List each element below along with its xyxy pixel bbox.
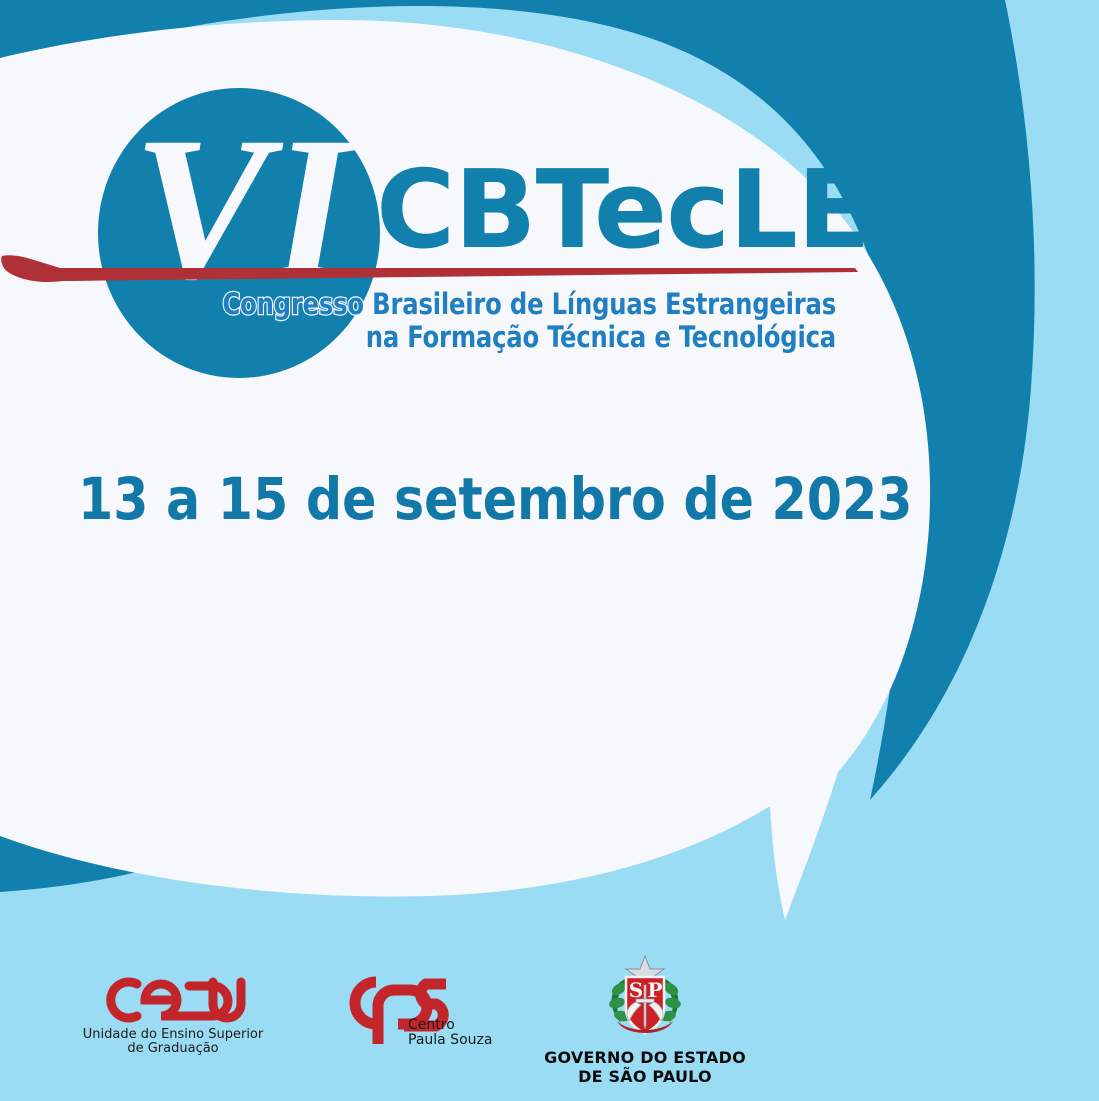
red-swoosh-icon [0, 248, 860, 292]
logo-subtitle-line-2: na Formação Técnica e Tecnológica [59, 321, 836, 354]
cesu-wordmark-icon [93, 970, 253, 1026]
cps-caption: Centro Paula Souza [408, 1018, 492, 1048]
svg-text:S: S [629, 978, 643, 1002]
cesu-caption-line-2: de Graduação [40, 1042, 306, 1056]
event-logo: VI CBTecLE Congresso Brasileiro de Língu… [0, 0, 1099, 400]
logo-subtitle-line-1: Congresso Brasileiro de Línguas Estrange… [59, 288, 836, 321]
cps-caption-line-2: Paula Souza [408, 1033, 492, 1048]
logo-subtitle: Congresso Brasileiro de Línguas Estrange… [59, 288, 836, 354]
logo-governo-sp: S P GOVERNO DO ESTADO DE SÃO PAULO [520, 953, 770, 1086]
cps-caption-line-1: Centro [408, 1018, 492, 1033]
cesu-caption: Unidade do Ensino Superior de Graduação [40, 1028, 306, 1056]
logo-cesu: Unidade do Ensino Superior de Graduação [40, 970, 306, 1056]
svg-text:P: P [647, 978, 662, 1002]
governo-sp-caption-line-1: GOVERNO DO ESTADO [520, 1048, 770, 1067]
sao-paulo-coat-of-arms-icon: S P [599, 953, 691, 1045]
cesu-caption-line-1: Unidade do Ensino Superior [40, 1028, 306, 1042]
governo-sp-caption: GOVERNO DO ESTADO DE SÃO PAULO [520, 1048, 770, 1086]
logo-cps: Centro Paula Souza [300, 970, 500, 1050]
sponsor-logos-row: Unidade do Ensino Superior de Graduação … [0, 945, 1099, 1101]
event-date-text: 13 a 15 de setembro de 2023 [78, 466, 912, 532]
poster-canvas: VI CBTecLE Congresso Brasileiro de Língu… [0, 0, 1099, 1101]
governo-sp-caption-line-2: DE SÃO PAULO [520, 1067, 770, 1086]
